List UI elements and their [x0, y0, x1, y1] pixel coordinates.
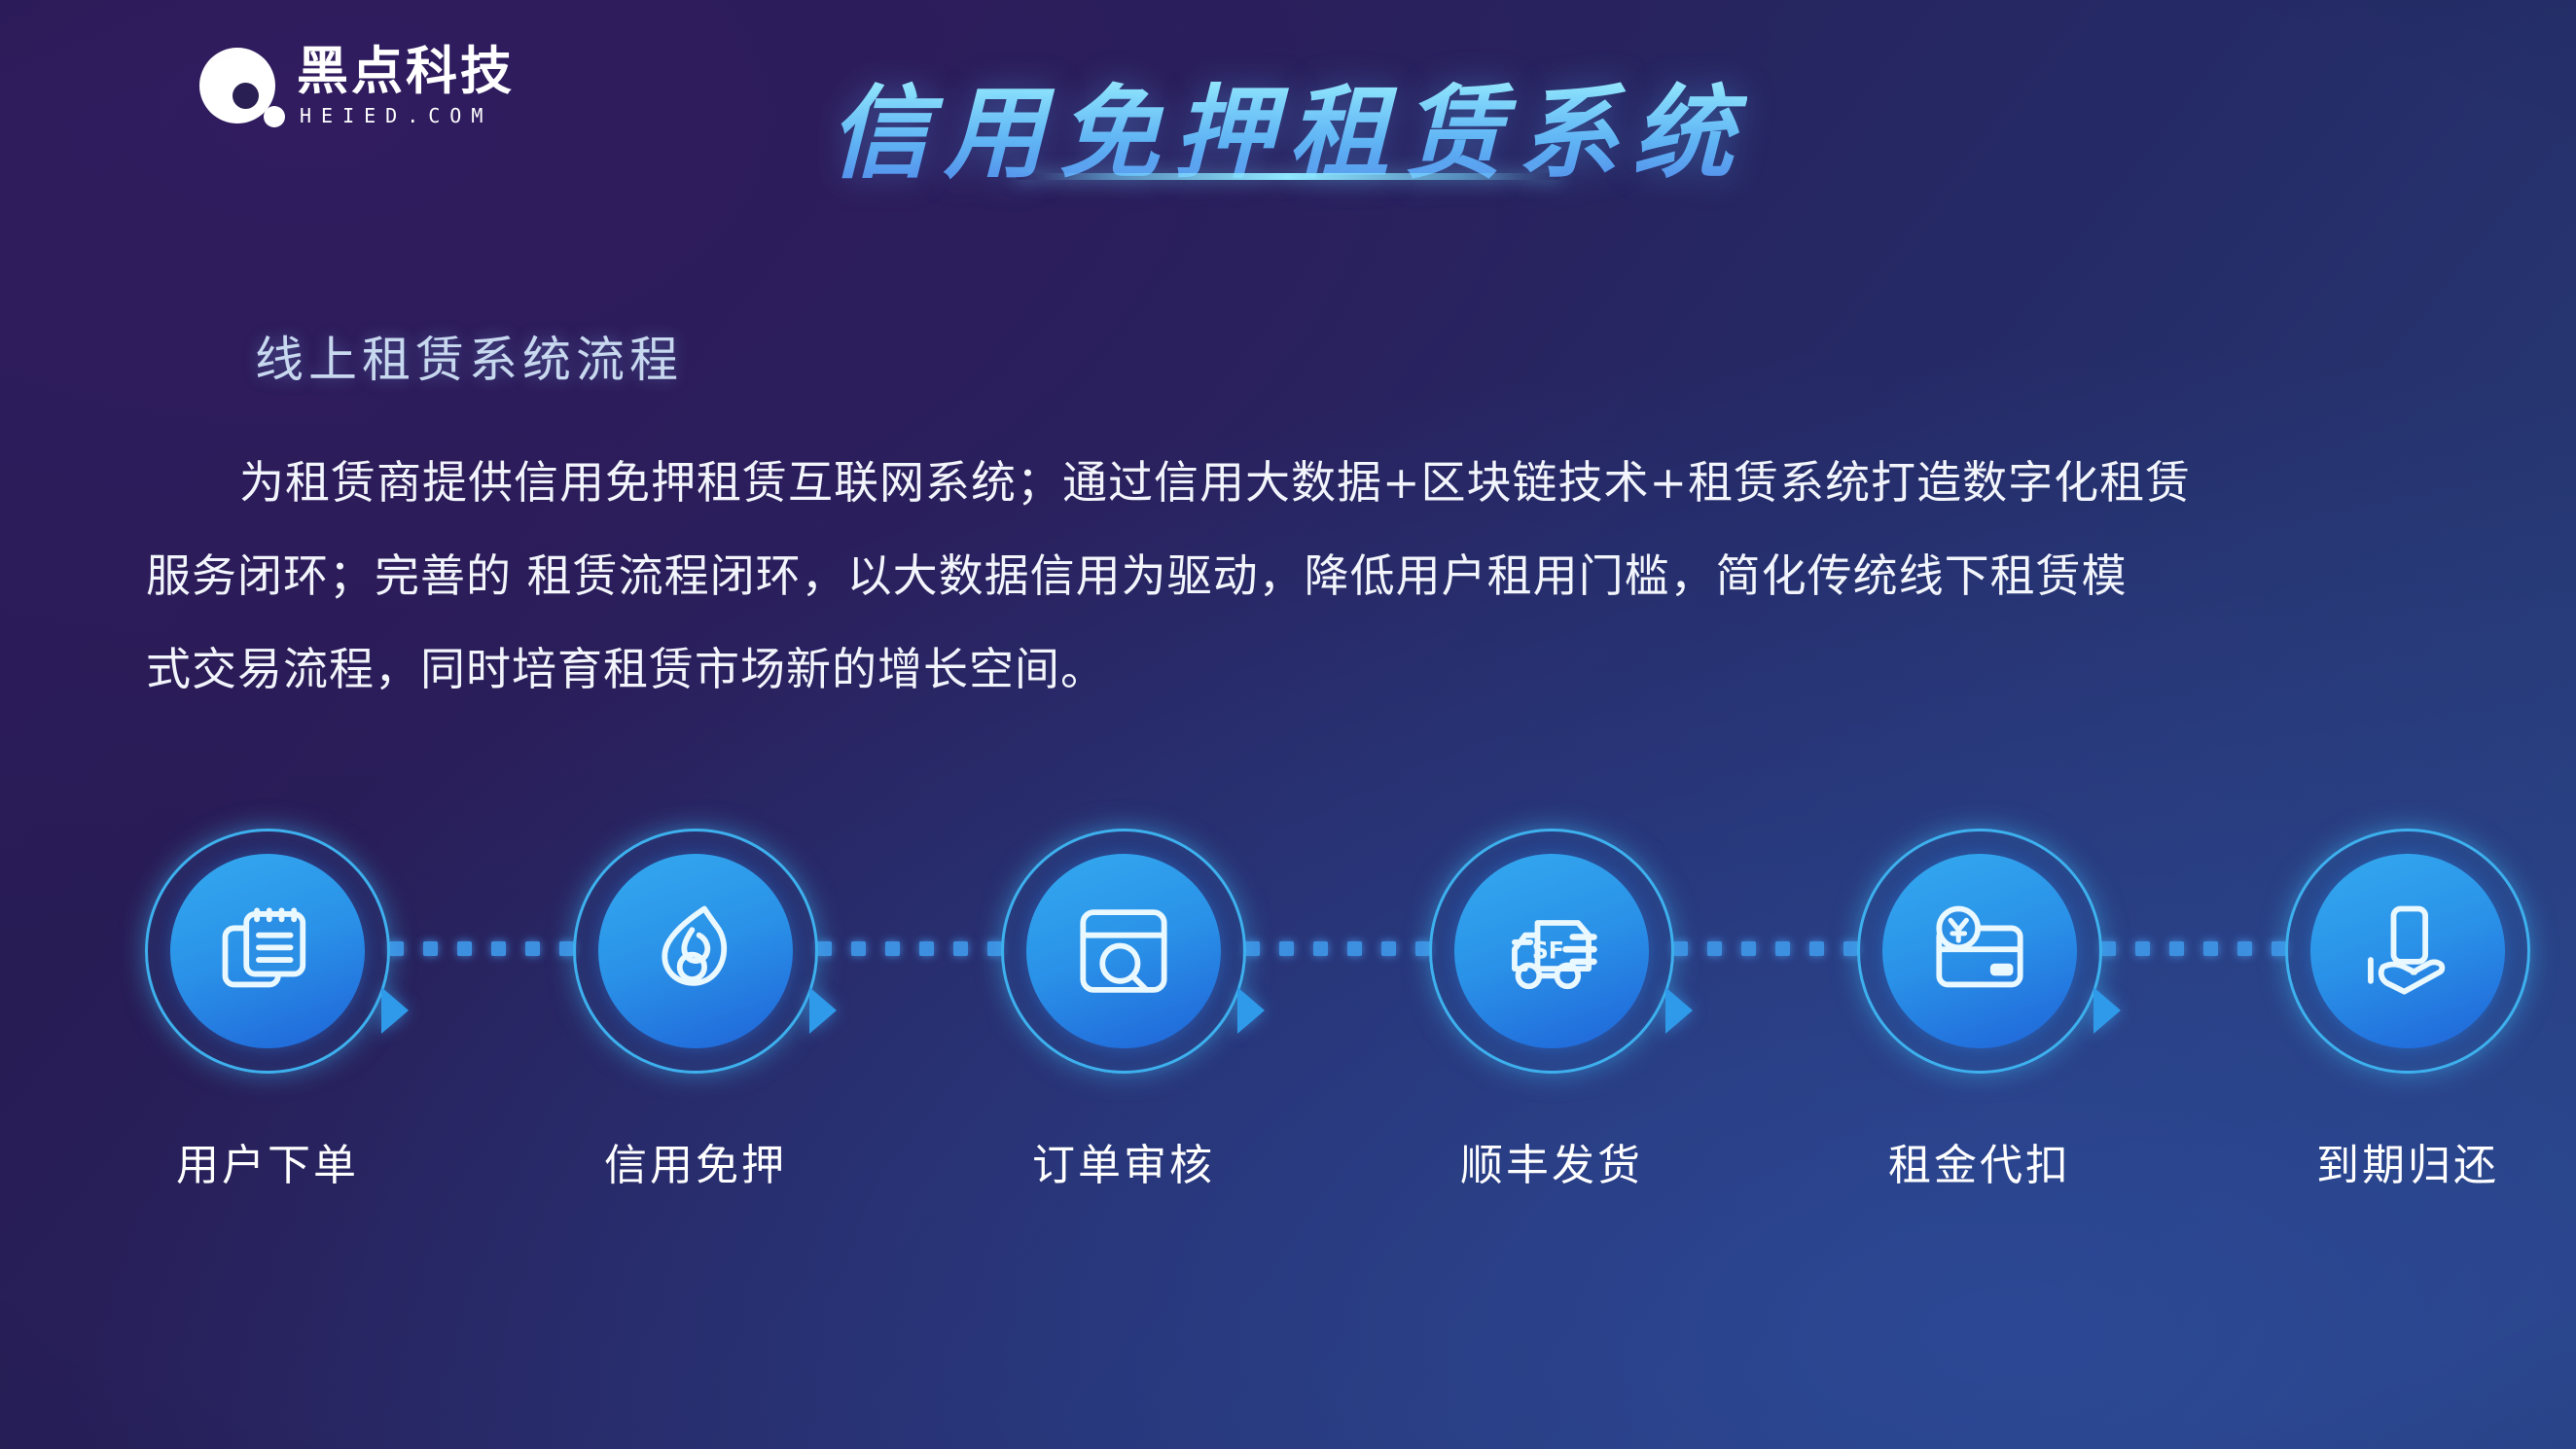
flow-arrow-icon	[2093, 987, 2121, 1034]
flow-step-label: 到期归还	[2316, 1130, 2499, 1192]
flow-connector-dots	[1245, 829, 1430, 1068]
hand-phone-return-icon	[2310, 854, 2505, 1048]
flow-arrow-icon	[1665, 987, 1693, 1034]
flow-step-label: 用户下单	[176, 1130, 359, 1192]
paragraph-line-3: 式交易流程，同时培育租赁市场新的增长空间。	[146, 622, 2442, 716]
flow-step-order-review[interactable]: 订单审核	[1002, 829, 1245, 1192]
credit-card-yuan-icon	[1882, 854, 2077, 1048]
flow-step-rent-deduction[interactable]: 租金代扣	[1858, 829, 2101, 1192]
flow-step-label: 信用免押	[604, 1130, 787, 1192]
flow-step-ring	[145, 829, 390, 1074]
process-flow: 用户下单 信用免押	[146, 829, 2442, 1149]
body-paragraph: 为租赁商提供信用免押租赁互联网系统；通过信用大数据+区块链技术+租赁系统打造数字…	[146, 436, 2442, 716]
paragraph-line-1: 为租赁商提供信用免押租赁互联网系统；通过信用大数据+区块链技术+租赁系统打造数字…	[146, 436, 2442, 529]
flow-step-return-on-expiry[interactable]: 到期归还	[2286, 829, 2529, 1192]
credit-droplet-icon	[598, 854, 793, 1048]
flow-step-ring	[573, 829, 818, 1074]
flow-connector-dots	[2101, 829, 2286, 1068]
flow-connector-dots	[817, 829, 1002, 1068]
title-underline	[1016, 173, 1560, 180]
delivery-truck-icon: SF	[1454, 854, 1649, 1048]
flow-step-label: 租金代扣	[1888, 1130, 2071, 1192]
flow-step-sf-shipping[interactable]: SF 顺丰发货	[1430, 829, 1673, 1192]
flow-step-ring	[1001, 829, 1246, 1074]
slide-canvas: 黑点科技 HEIED.COM 信用免押租赁系统 线上租赁系统流程 为租赁商提供信…	[0, 0, 2576, 1449]
flow-arrow-icon	[1237, 987, 1265, 1034]
svg-text:SF: SF	[1532, 937, 1564, 964]
clipboard-notes-icon	[170, 854, 365, 1048]
flow-step-label: 顺丰发货	[1460, 1130, 1643, 1192]
flow-step-ring	[2285, 829, 2530, 1074]
paragraph-line-2: 服务闭环；完善的 租赁流程闭环，以大数据信用为驱动，降低用户租用门槛，简化传统线…	[146, 529, 2442, 622]
flow-connector-dots	[1673, 829, 1858, 1068]
window-search-icon	[1026, 854, 1221, 1048]
section-subtitle: 线上租赁系统流程	[255, 321, 683, 391]
flow-step-ring	[1857, 829, 2102, 1074]
flow-arrow-icon	[381, 987, 409, 1034]
flow-step-ring: SF	[1429, 829, 1674, 1074]
flow-connector-dots	[389, 829, 574, 1068]
flow-step-label: 订单审核	[1032, 1130, 1215, 1192]
flow-arrow-icon	[809, 987, 837, 1034]
flow-step-user-order[interactable]: 用户下单	[146, 829, 389, 1192]
flow-step-credit-free-deposit[interactable]: 信用免押	[574, 829, 817, 1192]
